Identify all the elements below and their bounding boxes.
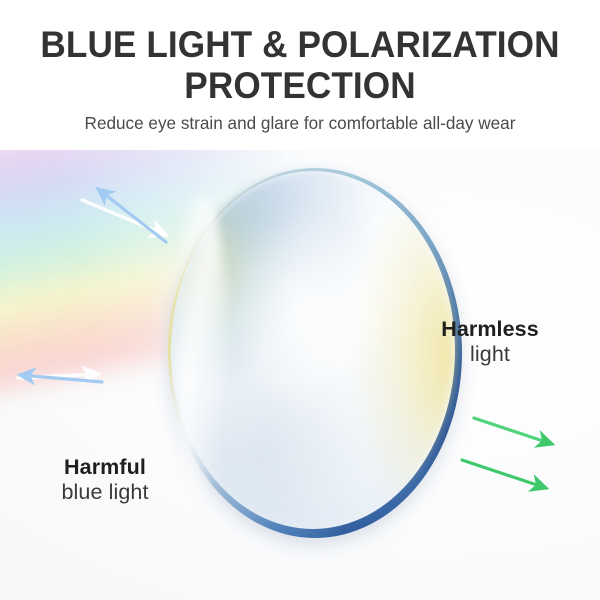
transmitted-green-arrow-upper (474, 418, 552, 444)
label-harmful-strong: Harmful (0, 455, 210, 480)
page-subtitle: Reduce eye strain and glare for comforta… (6, 112, 594, 134)
label-harmful-blue-light: Harmful blue light (0, 455, 210, 505)
illustration-scene: Harmful blue light Harmless light (0, 150, 600, 600)
label-harmless-light: Harmless light (390, 317, 590, 367)
page-title: BLUE LIGHT & POLARIZATION PROTECTION (15, 24, 585, 106)
header-band: BLUE LIGHT & POLARIZATION PROTECTION Red… (0, 0, 600, 150)
transmitted-green-arrow-lower (462, 460, 546, 488)
lens-specular-highlight (222, 206, 392, 416)
label-harmful-light: blue light (0, 480, 210, 505)
poster-root: Harmful blue light Harmless light BLUE L… (0, 0, 600, 600)
label-harmless-light: light (390, 342, 590, 367)
label-harmless-strong: Harmless (390, 317, 590, 342)
lens-rim-highlight (174, 194, 228, 494)
